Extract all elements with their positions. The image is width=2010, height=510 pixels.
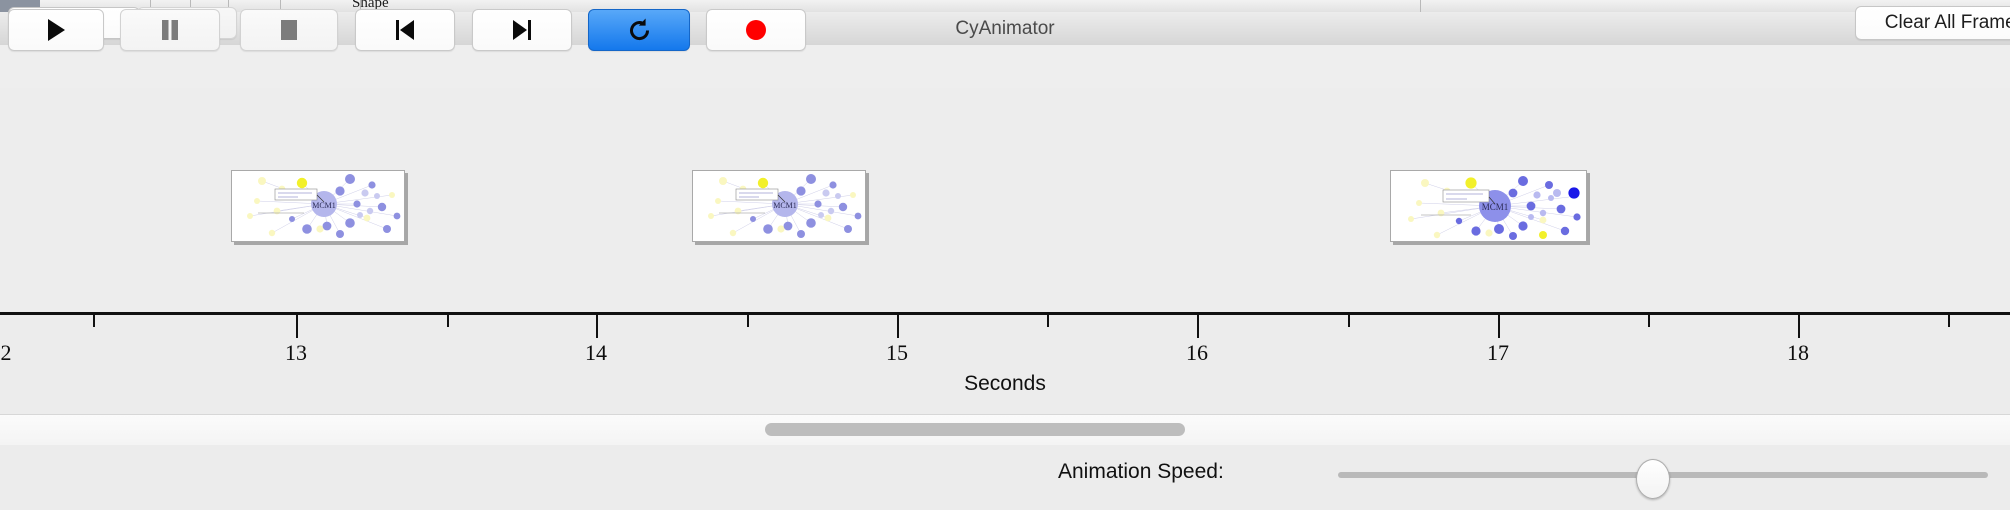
timeline-scrollbar-thumb[interactable] — [765, 423, 1185, 436]
axis-minor-tick — [1047, 315, 1049, 327]
skip-back-icon — [393, 18, 417, 42]
axis-minor-tick — [1948, 315, 1950, 327]
central-node-label: MCM1 — [773, 201, 797, 210]
pause-button[interactable] — [120, 9, 220, 51]
clear-all-frames-label: Clear All Frames — [1885, 12, 2010, 34]
network-graph-preview: MCM1 — [232, 171, 404, 241]
timeline-frame-thumbnail[interactable]: MCM1 — [231, 170, 405, 242]
play-icon — [44, 17, 68, 43]
loop-button[interactable] — [588, 9, 690, 51]
stop-button[interactable] — [240, 9, 338, 51]
play-button[interactable] — [8, 9, 104, 51]
axis-tick-label: 18 — [1787, 340, 1809, 366]
skip-to-start-button[interactable] — [355, 9, 455, 51]
axis-major-tick — [1197, 315, 1199, 338]
timeline-scrollbar[interactable] — [0, 414, 2010, 446]
timeline-axis — [0, 312, 2010, 315]
animation-speed-label: Animation Speed: — [1058, 460, 1224, 484]
animation-speed-slider-thumb[interactable] — [1636, 459, 1670, 499]
timeline-panel[interactable]: MCM1 — [0, 88, 2010, 318]
pause-icon — [159, 18, 181, 42]
axis-tick-label: 14 — [585, 340, 607, 366]
cyanimator-window: Shape CyAnimator ✚ Clear All Frames — [0, 0, 2010, 510]
loop-icon — [626, 17, 653, 44]
skip-to-end-button[interactable] — [472, 9, 572, 51]
timeline-frame-thumbnail[interactable]: MCM1 — [1390, 170, 1587, 242]
axis-major-tick — [897, 315, 899, 338]
skip-forward-icon — [510, 18, 534, 42]
axis-tick-label: 2 — [1, 340, 12, 366]
timeline-frame-thumbnail[interactable]: MCM1 — [692, 170, 866, 242]
axis-minor-tick — [447, 315, 449, 327]
clear-all-frames-button[interactable]: Clear All Frames — [1855, 6, 2010, 40]
axis-minor-tick — [747, 315, 749, 327]
axis-tick-label: 13 — [285, 340, 307, 366]
record-icon — [744, 18, 768, 42]
network-graph-preview: MCM1 — [693, 171, 865, 241]
axis-tick-label: 15 — [886, 340, 908, 366]
axis-minor-tick — [93, 315, 95, 327]
stop-icon — [278, 18, 300, 42]
axis-major-tick — [1798, 315, 1800, 338]
axis-major-tick — [596, 315, 598, 338]
axis-minor-tick — [1348, 315, 1350, 327]
axis-minor-tick — [1648, 315, 1650, 327]
axis-tick-label: 16 — [1186, 340, 1208, 366]
central-node-label: MCM1 — [312, 201, 336, 210]
record-button[interactable] — [706, 9, 806, 51]
axis-major-tick — [1498, 315, 1500, 338]
axis-tick-label: 17 — [1487, 340, 1509, 366]
background-seam — [1420, 0, 1421, 12]
toolbar — [0, 45, 2010, 89]
network-graph-preview: MCM1 — [1391, 171, 1586, 241]
axis-title: Seconds — [0, 372, 2010, 396]
axis-major-tick — [296, 315, 298, 338]
